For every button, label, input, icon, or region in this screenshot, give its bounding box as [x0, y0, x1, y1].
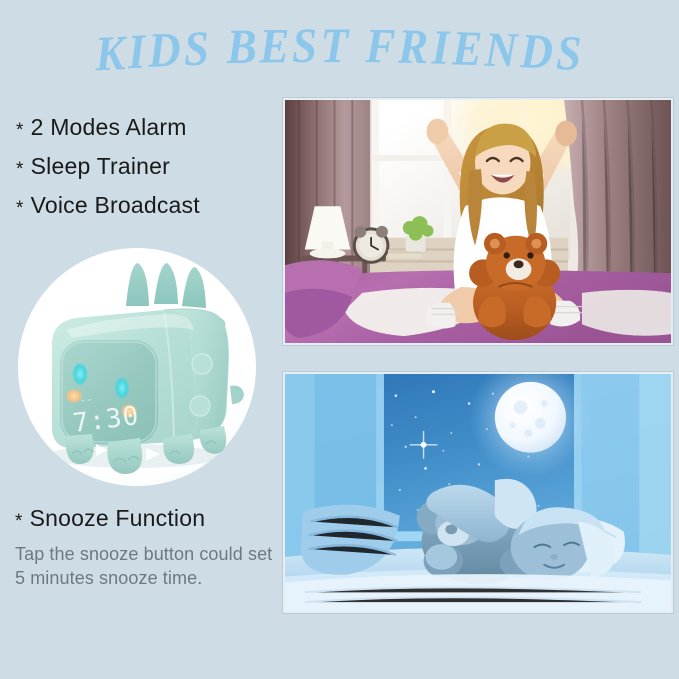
- title-letter: I: [431, 19, 453, 77]
- feature-label: Voice Broadcast: [31, 194, 200, 217]
- title-letter: K: [94, 24, 129, 82]
- list-item: * Sleep Trainer: [16, 155, 271, 178]
- title-letter: E: [451, 20, 485, 78]
- title-letter: [351, 17, 366, 74]
- asterisk-bullet-icon: *: [16, 199, 24, 218]
- title-letter: N: [484, 21, 521, 79]
- list-item: * Voice Broadcast: [16, 194, 271, 217]
- title-letter: R: [398, 18, 432, 76]
- morning-wakeup-photo: [283, 98, 673, 345]
- dinosaur-spikes: [126, 263, 206, 308]
- title-letter: B: [226, 18, 260, 76]
- asterisk-bullet-icon: *: [15, 511, 23, 533]
- title-letter: E: [259, 17, 293, 74]
- page-title: KIDS BEST FRIENDS: [0, 24, 679, 94]
- title-letter: D: [148, 21, 185, 79]
- svg-text:--: --: [79, 392, 94, 407]
- night-sleep-photo: [283, 372, 673, 613]
- title-letter: S: [292, 17, 320, 74]
- title-letter: D: [519, 22, 556, 80]
- page-title-text: KIDS BEST FRIENDS: [95, 21, 584, 78]
- side-button-top: [192, 354, 212, 374]
- feature-list: * 2 Modes Alarm * Sleep Trainer * Voice …: [16, 116, 271, 233]
- product-feature-poster: KIDS BEST FRIENDS * 2 Modes Alarm * Slee…: [0, 0, 679, 679]
- list-item: * 2 Modes Alarm: [16, 116, 271, 139]
- asterisk-bullet-icon: *: [16, 160, 24, 179]
- title-letter: [212, 19, 227, 76]
- title-letter: S: [555, 24, 585, 82]
- asterisk-bullet-icon: *: [16, 121, 24, 140]
- snooze-description: Tap the snooze button could set 5 minute…: [15, 543, 277, 591]
- feature-label: Sleep Trainer: [31, 155, 170, 178]
- title-letter: F: [365, 17, 399, 74]
- product-image: 7:30 --: [14, 248, 266, 488]
- title-letter: S: [184, 20, 213, 78]
- feature-label: 2 Modes Alarm: [31, 116, 187, 139]
- dinosaur-alarm-clock-illustration: 7:30 --: [14, 248, 266, 488]
- title-letter: I: [127, 23, 149, 81]
- snooze-heading-label: Snooze Function: [30, 505, 206, 532]
- moon: [495, 382, 566, 453]
- side-button-bottom: [190, 396, 210, 416]
- snooze-heading: * Snooze Function: [15, 505, 205, 532]
- title-letter: T: [321, 17, 351, 74]
